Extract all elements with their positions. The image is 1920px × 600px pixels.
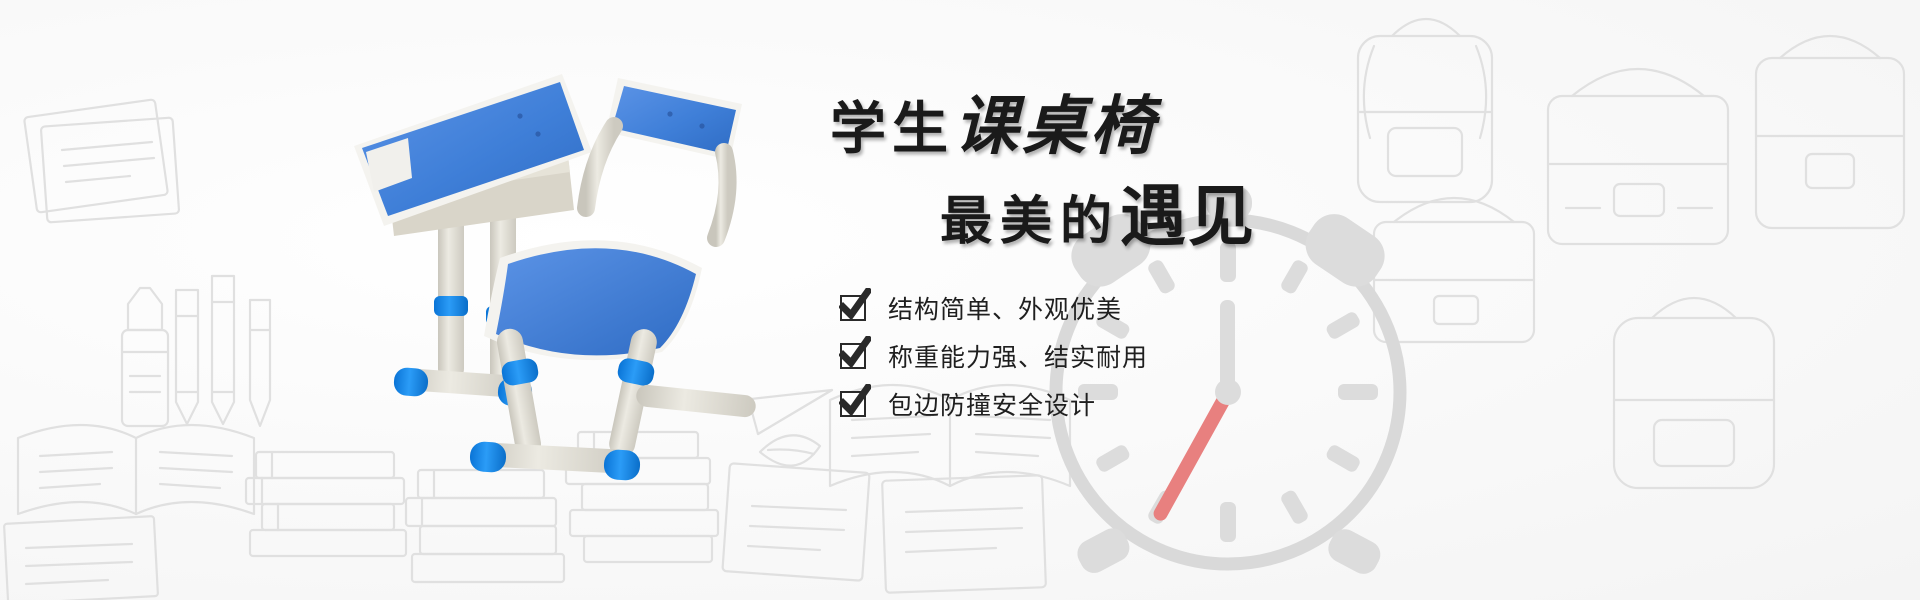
open-book-sketch-icon (18, 425, 254, 514)
headline-line-1-prefix: 学生 (830, 99, 954, 161)
copy-block: 学生课桌椅 最美的遇见 结构简单、外观优美 称重能力强、结实耐用 (820, 95, 1380, 435)
glue-bottle-sketch-icon (122, 288, 168, 426)
paper-sheet-sketch-icon (4, 516, 158, 600)
checkbox-checked-icon (840, 295, 866, 321)
promo-banner: 学生课桌椅 最美的遇见 结构简单、外观优美 称重能力强、结实耐用 (0, 0, 1920, 600)
checkbox-checked-icon (840, 391, 866, 417)
paper-sheet-sketch-icon (882, 475, 1046, 593)
satchel-sketch-icon (1374, 198, 1534, 342)
feature-list: 结构简单、外观优美 称重能力强、结实耐用 包边防撞安全设计 (820, 291, 1380, 421)
feature-label: 称重能力强、结实耐用 (888, 338, 1148, 374)
pencil-sketch-icon (176, 290, 198, 424)
notebook-sketch-icon (24, 99, 179, 222)
satchel-sketch-icon (1548, 69, 1728, 244)
feature-item: 结构简单、外观优美 (840, 291, 1380, 325)
feature-item: 称重能力强、结实耐用 (840, 339, 1380, 373)
headline-line-2-emphasis: 遇见 (1120, 181, 1256, 254)
headline-line-1-emphasis: 课桌椅 (954, 91, 1158, 162)
feature-item: 包边防撞安全设计 (840, 387, 1380, 421)
feature-label: 包边防撞安全设计 (888, 386, 1096, 422)
headline-line-1: 学生课桌椅 (820, 95, 1380, 159)
satchel-sketch-icon (1756, 36, 1904, 228)
headline-line-2-prefix: 最美的 (940, 194, 1120, 251)
paint-brush-sketch-icon (250, 300, 270, 426)
product-image-desk-chair (330, 60, 850, 530)
checkbox-checked-icon (840, 343, 866, 369)
pencil-sketch-icon (212, 276, 234, 424)
backpack-sketch-icon (1614, 298, 1774, 488)
feature-label: 结构简单、外观优美 (888, 290, 1122, 326)
headline-line-2: 最美的遇见 (820, 185, 1380, 251)
